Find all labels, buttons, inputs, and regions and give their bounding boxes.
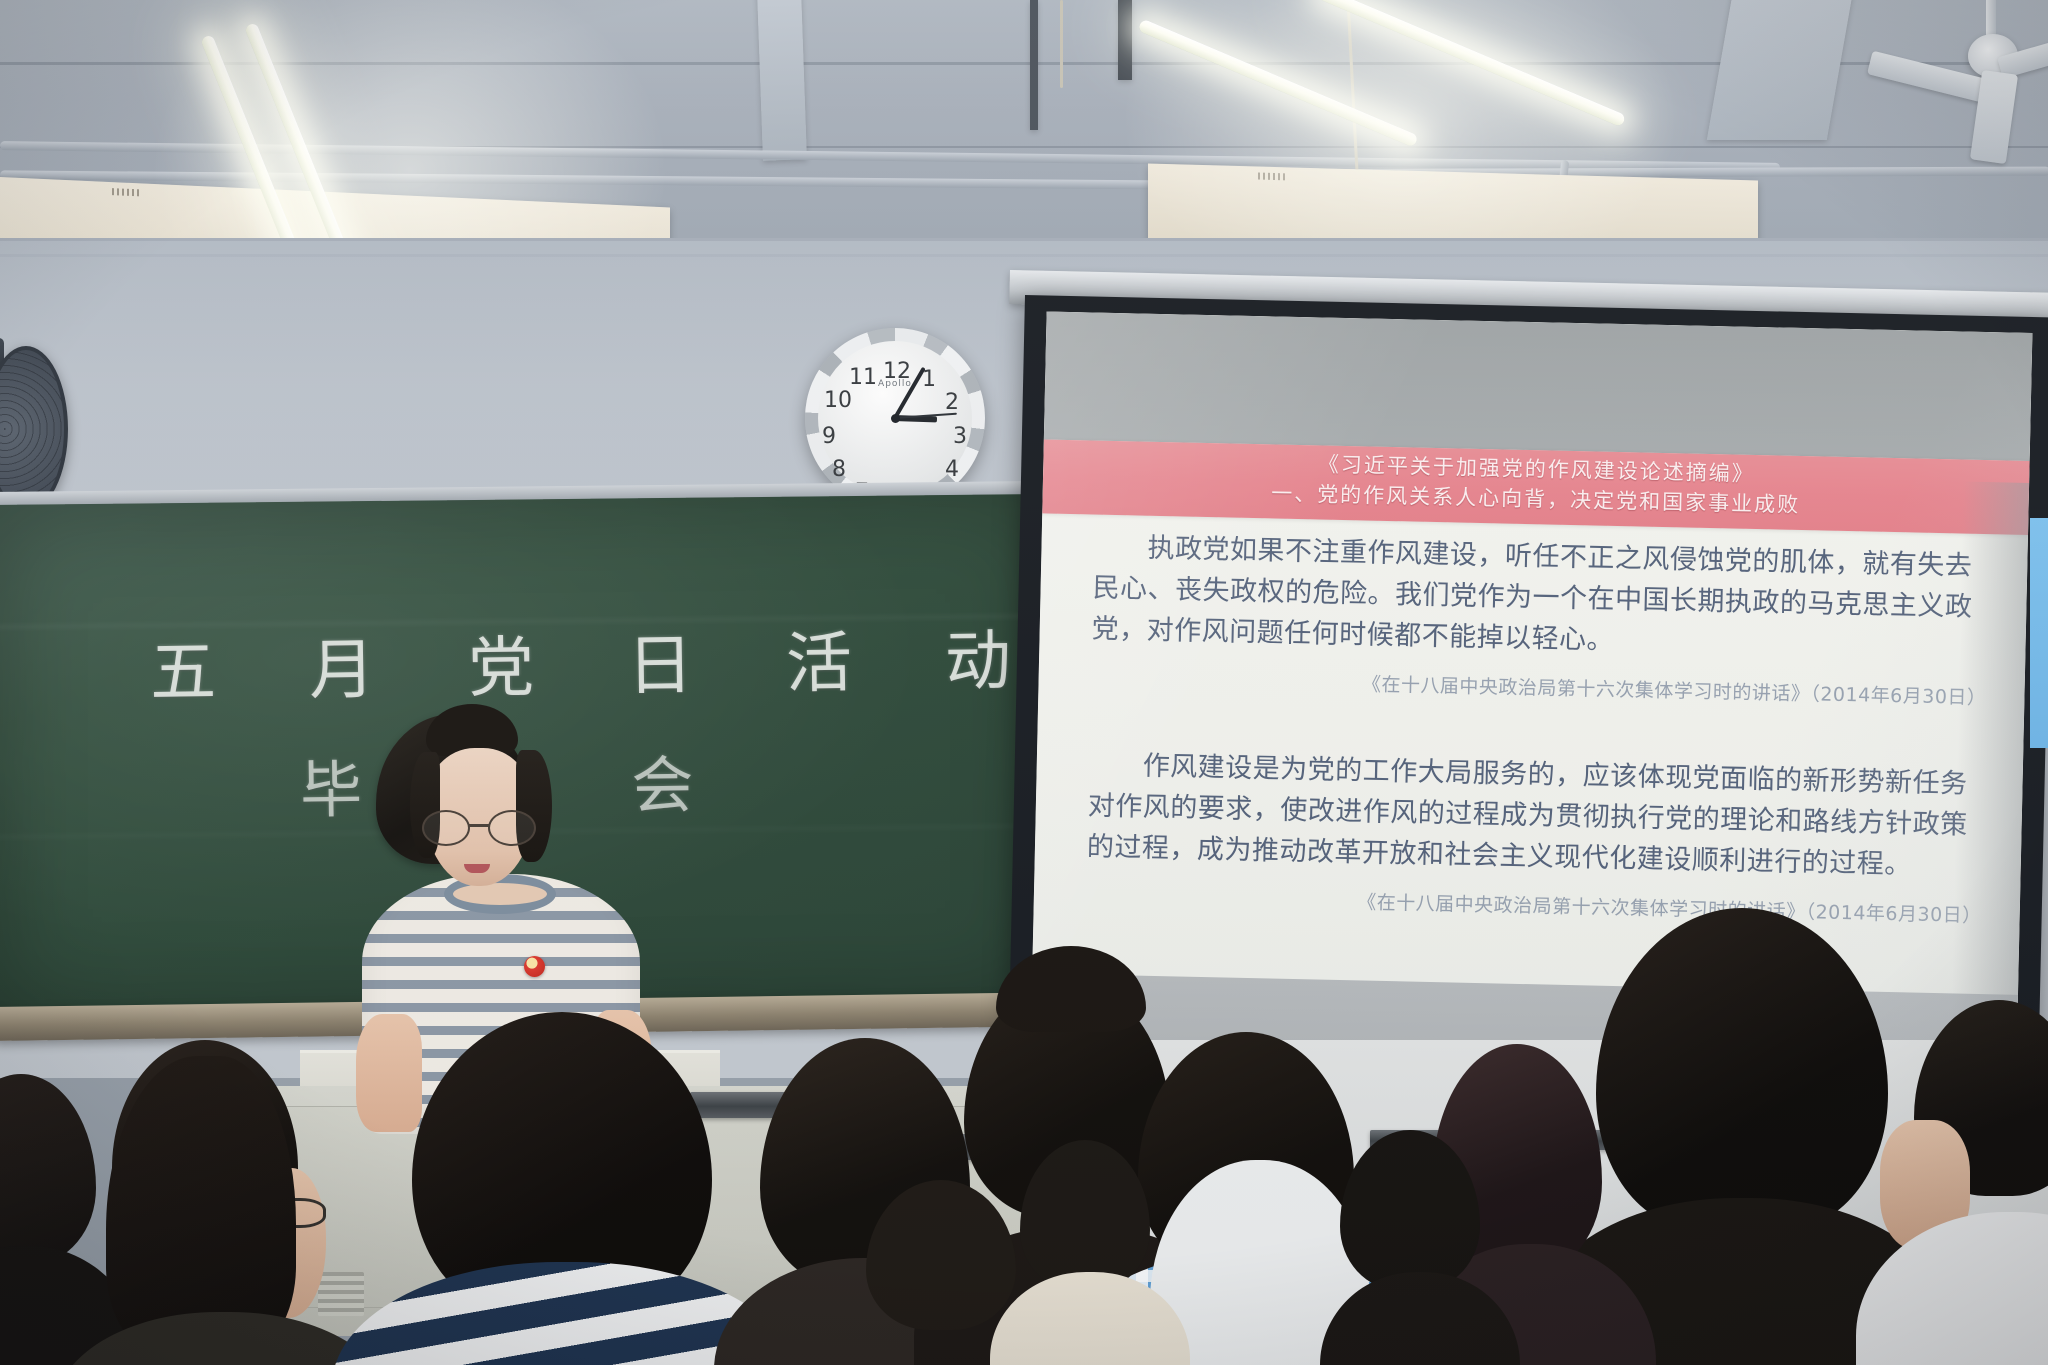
clock-numeral: 8 — [827, 457, 851, 482]
slide-paragraph-1: 执政党如果不注重作风建设，听任不正之风侵蚀党的肌体，就有失去民心、丧失政权的危险… — [1091, 527, 1975, 669]
audience-member — [860, 1180, 1030, 1365]
presenter-glasses — [424, 810, 534, 844]
ceiling-fan — [1880, 0, 2048, 180]
clock-numeral: 10 — [824, 388, 848, 413]
audience-member — [1896, 1000, 2048, 1365]
clock-numeral: 12 — [883, 359, 907, 384]
window-sky-sliver — [2030, 518, 2048, 748]
slide-top-gray-band — [1044, 311, 2033, 460]
clock-numeral: 3 — [948, 424, 972, 449]
clock-numeral: 11 — [849, 365, 873, 390]
clock-numeral: 9 — [817, 424, 841, 449]
clock-numeral: 4 — [940, 457, 964, 482]
wall-mounted-fan — [0, 338, 64, 513]
clock-numeral: 2 — [940, 390, 964, 415]
blackboard-title: 五 月 党 日 活 动 — [149, 607, 1047, 716]
slide-body: 执政党如果不注重作风建设，听任不正之风侵蚀党的肌体，就有失去民心、丧失政权的危险… — [1034, 525, 2028, 929]
clock-face: Apollo 12 1 2 3 4 5 6 7 8 9 10 11 — [818, 341, 972, 495]
classroom-photo-scene: Apollo 12 1 2 3 4 5 6 7 8 9 10 11 五 月 党 … — [0, 0, 2048, 1365]
audience-member — [1334, 1130, 1494, 1365]
audience-member — [84, 1040, 374, 1365]
presenter-hair-right — [516, 750, 552, 862]
hanging-wire — [1060, 0, 1063, 88]
clock-center-pin — [891, 414, 900, 423]
party-emblem-badge — [524, 956, 545, 977]
audience-member — [1010, 1140, 1160, 1365]
audience-member — [360, 1012, 780, 1365]
slide-paragraph-2: 作风建设是为党的工作大局服务的，应该体现党面临的新形势新任务对作风的要求，使改进… — [1087, 745, 1971, 887]
